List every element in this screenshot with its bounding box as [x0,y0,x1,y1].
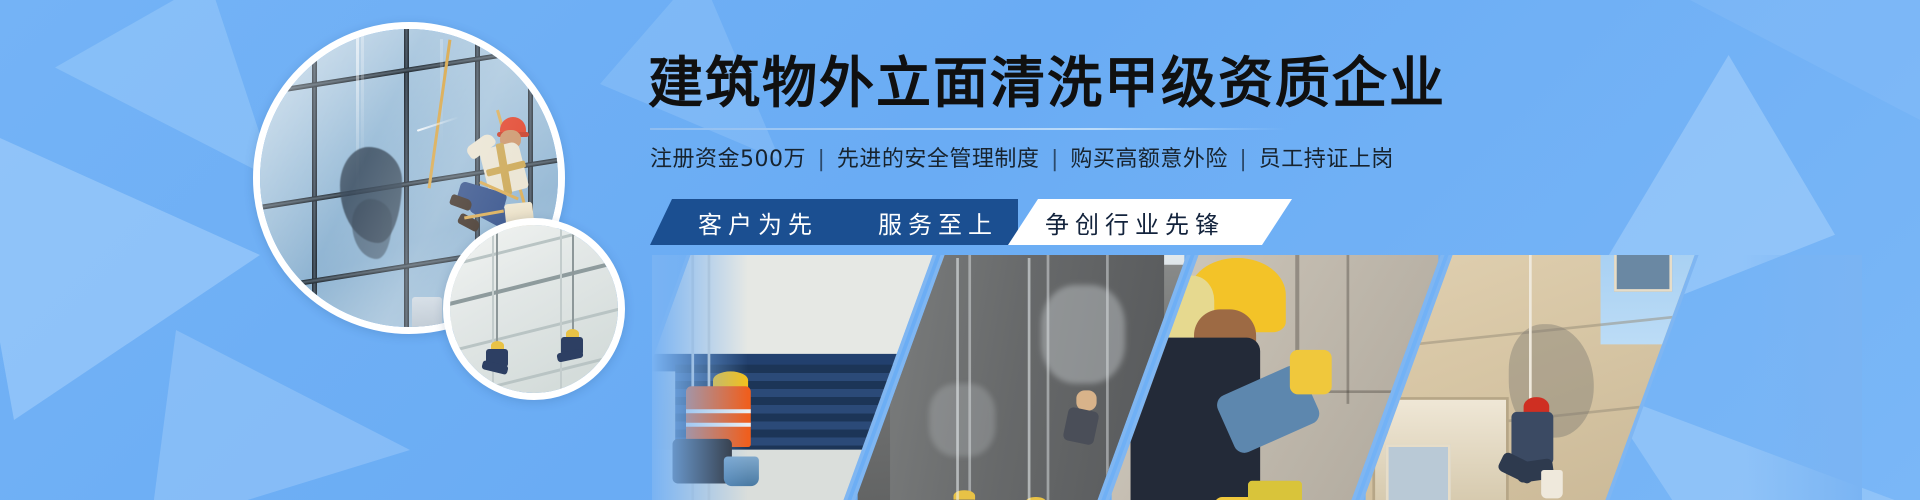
worker-small [480,341,516,377]
feature-item-3: 购买高额意外险 [1070,147,1228,172]
safety-rope [572,225,574,343]
photo-strip [652,255,1862,500]
safety-rope [496,225,498,353]
vest-reflective-stripe [686,423,751,427]
upper-wall [652,255,937,358]
wall-stain [1041,285,1126,384]
worker-abseiling [1496,397,1574,500]
wall-seam [1047,255,1050,500]
feature-item-1: 注册资金500万 [650,147,806,172]
wall-seam [969,255,972,500]
slogan-1: 客户为先 [698,199,818,245]
slogan-2: 服务至上 [878,199,998,245]
feature-separator: | [1047,147,1063,172]
light-facade-scene [450,225,618,393]
circle-photo-cluster [0,0,660,500]
strip-right-fade [1742,255,1862,500]
worker-orange-vest [669,371,774,483]
wall-crack [1347,255,1350,404]
feature-item-2: 先进的安全管理制度 [837,147,1040,172]
worker-abseiling [1014,497,1060,500]
worker-abseiling [1060,391,1112,451]
slogan-3: 争创行业先锋 [1045,199,1225,245]
photo-light-facade-two-workers [443,218,625,400]
feature-separator: | [814,147,830,172]
feature-item-4: 员工持证上岗 [1259,147,1394,172]
safety-rope [1529,255,1532,417]
paint-bucket [723,456,759,485]
window [1385,444,1450,500]
promo-banner: 建筑物外立面清洗甲级资质企业 注册资金500万 | 先进的安全管理制度 | 购买… [0,0,1920,500]
vest-reflective-stripe [686,409,751,413]
facade-seam [443,301,625,361]
page-title: 建筑物外立面清洗甲级资质企业 [648,52,1446,114]
feature-separator: | [1235,147,1251,172]
yellow-glove [1290,349,1332,394]
wall-stain [930,384,995,457]
worker-abseiling [943,490,989,500]
safety-rope [956,258,959,500]
trowel-tool [1248,480,1302,500]
worker-small [556,329,592,365]
facade-seam [443,347,625,400]
worker-legs [1062,406,1100,445]
slogan-ribbon: 客户为先 服务至上 争创行业先锋 [650,199,1290,245]
window [1614,255,1673,291]
work-bucket [1542,470,1562,498]
facade-mullion [560,218,562,400]
safety-rope [1028,258,1031,500]
title-underline [650,128,1286,130]
feature-list: 注册资金500万 | 先进的安全管理制度 | 购买高额意外险 | 员工持证上岗 [650,143,1394,177]
